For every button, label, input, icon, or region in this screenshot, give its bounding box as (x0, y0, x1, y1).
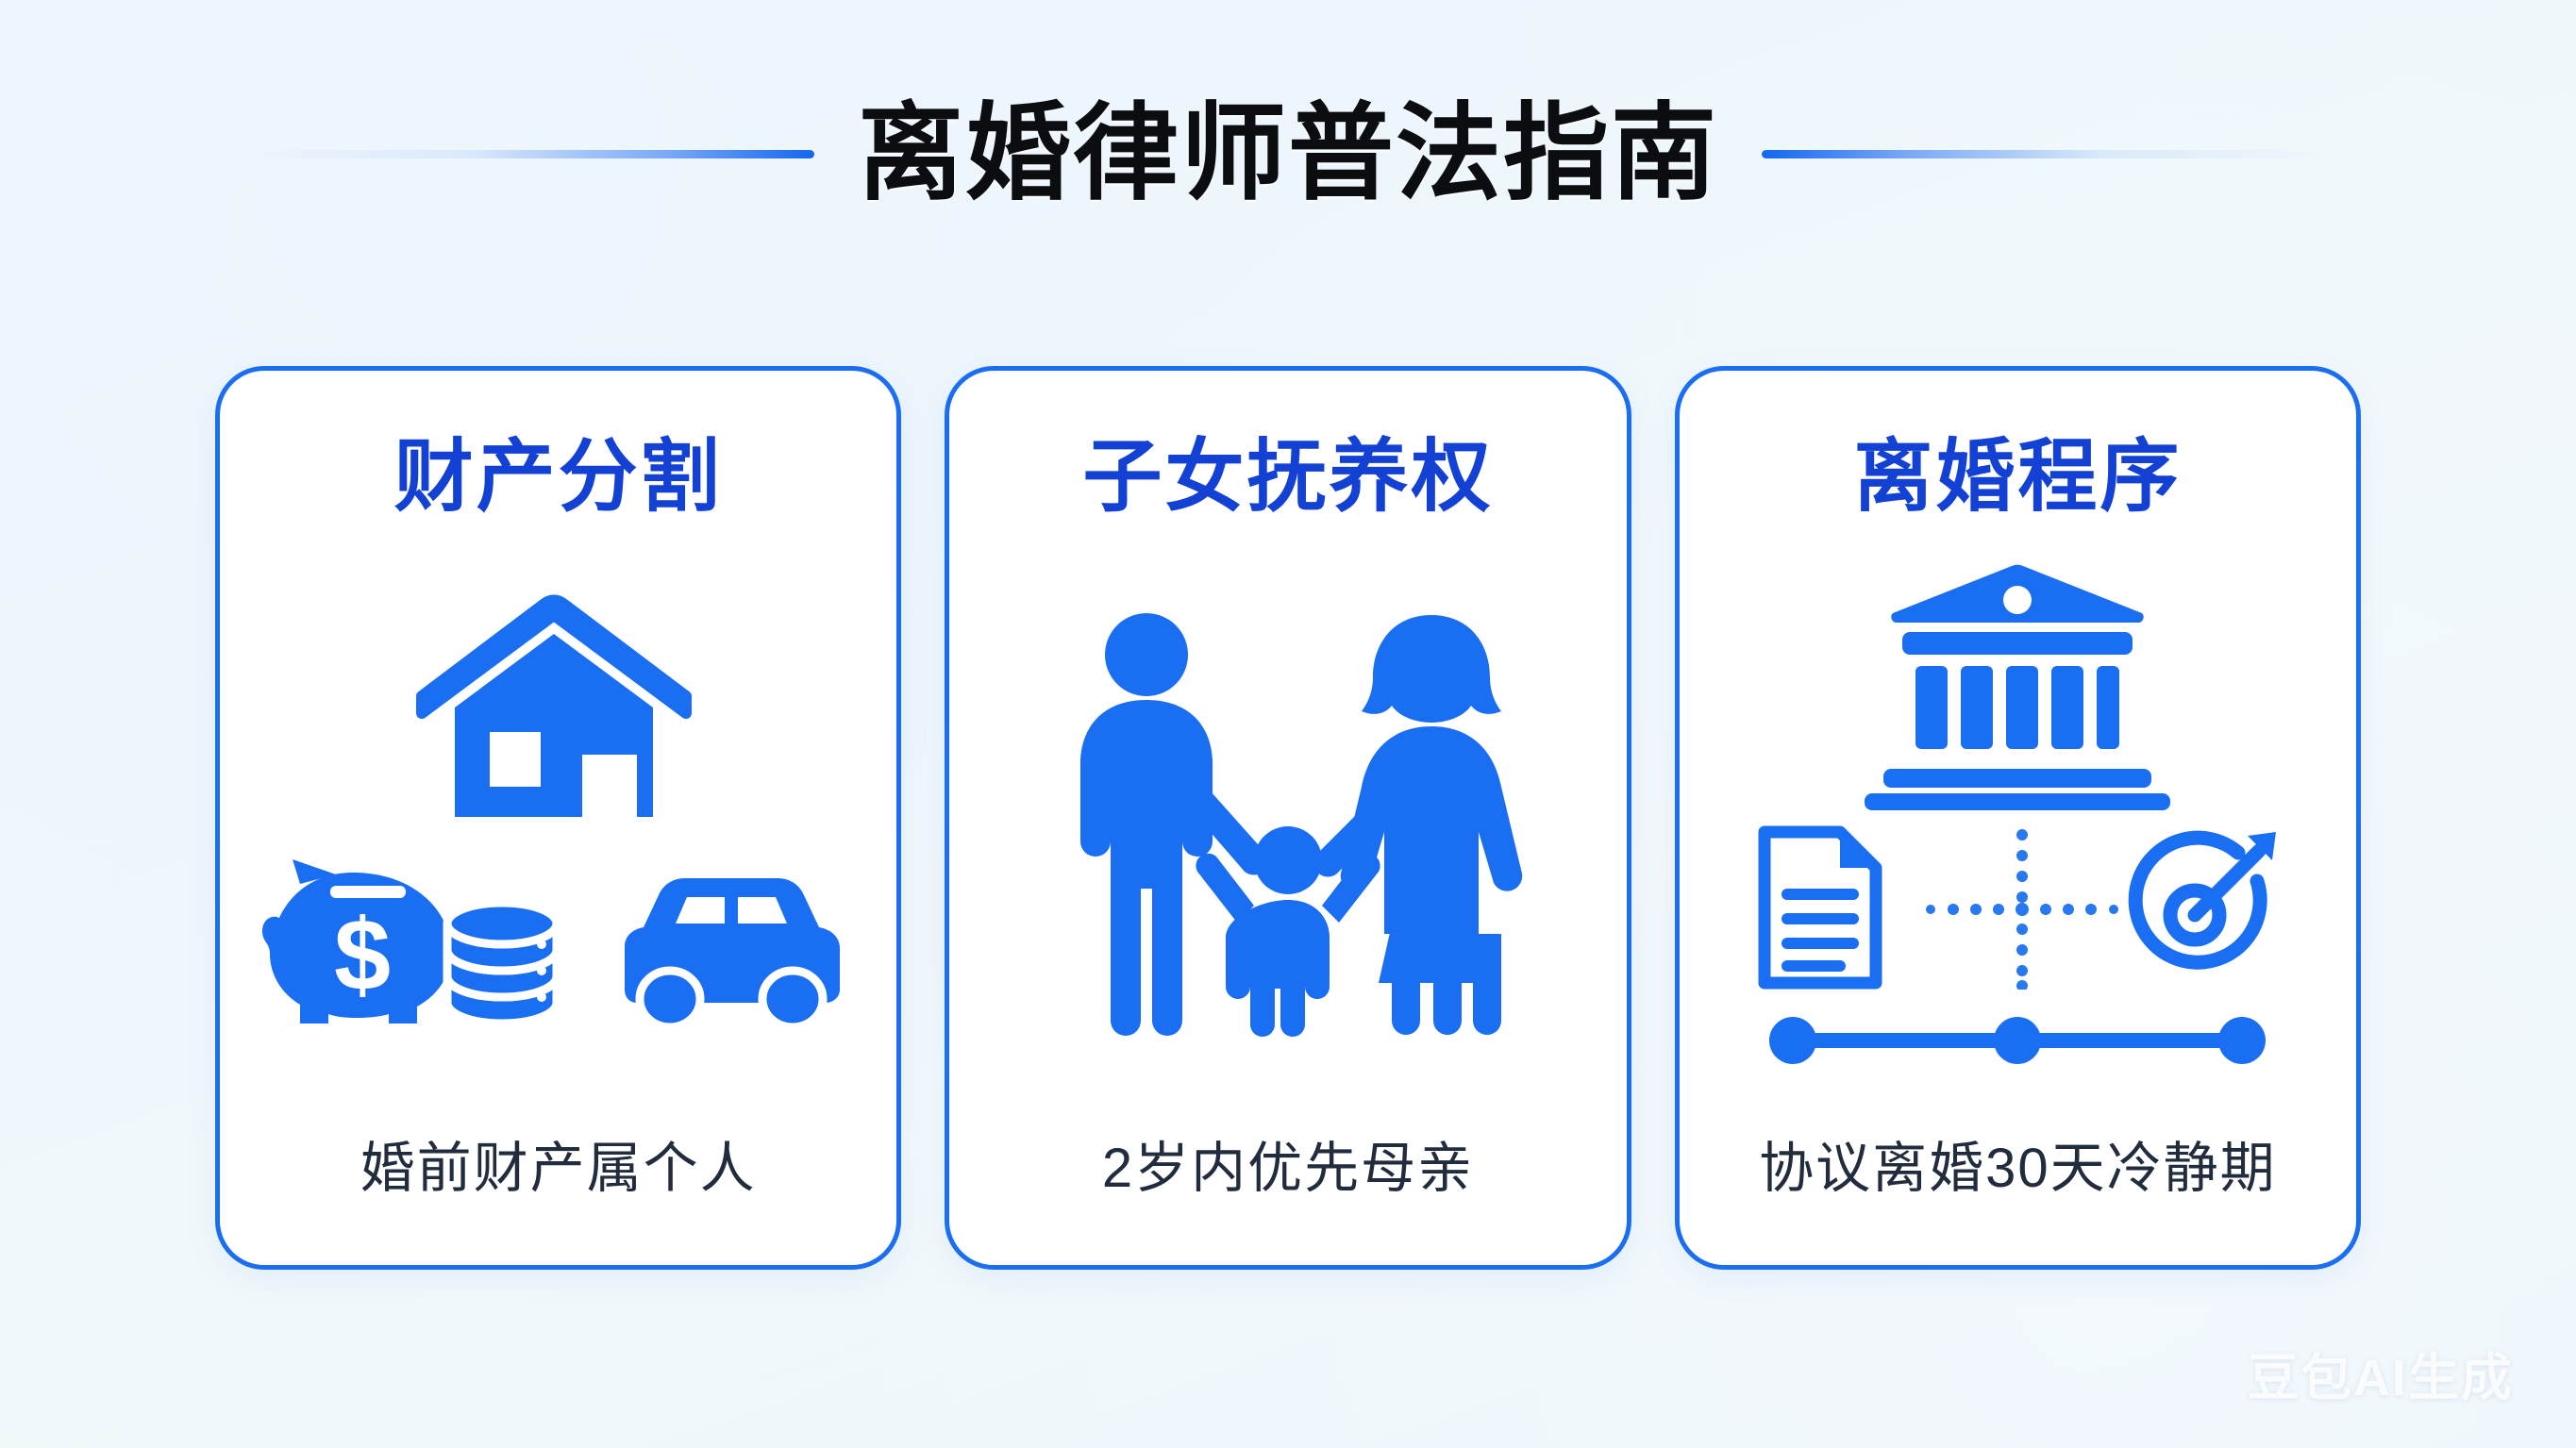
courthouse-icon (1876, 558, 2159, 761)
card-title: 子女抚养权 (1082, 437, 1493, 516)
card-title: 离婚程序 (1853, 437, 2182, 516)
card-grid: 财产分割 (215, 366, 2361, 1270)
document-icon (1749, 823, 1891, 997)
car-icon (593, 871, 866, 1036)
card-caption: 协议离婚30天冷静期 (1759, 1123, 2277, 1203)
courthouse-base-icon (1857, 767, 2178, 817)
coin-stack-icon (436, 890, 568, 1036)
card-visual-procedure (1700, 516, 2335, 1123)
dotted-cross-icon (1923, 829, 2083, 990)
header-rule-left (248, 150, 814, 158)
watermark: 豆包AI生成 (2248, 1336, 2514, 1410)
card-property-division[interactable]: 财产分割 (215, 366, 901, 1270)
card-visual-family (970, 516, 1605, 1123)
svg-text:$: $ (334, 897, 391, 1011)
card-child-custody[interactable]: 子女抚养权 (945, 366, 1631, 1270)
timeline-icon (1753, 1012, 2282, 1069)
page-header: 离婚律师普法指南 (0, 74, 2576, 234)
page-title: 离婚律师普法指南 (858, 101, 1718, 207)
card-visual-assets: $ (241, 516, 876, 1123)
card-caption: 婚前财产属个人 (360, 1123, 757, 1203)
card-title: 财产分割 (394, 437, 723, 516)
house-icon (403, 594, 714, 835)
header-rule-right (1762, 150, 2328, 158)
card-caption: 2岁内优先母亲 (1102, 1123, 1474, 1203)
card-divorce-procedure[interactable]: 离婚程序 (1675, 366, 2361, 1270)
target-arrow-icon (2116, 823, 2285, 997)
